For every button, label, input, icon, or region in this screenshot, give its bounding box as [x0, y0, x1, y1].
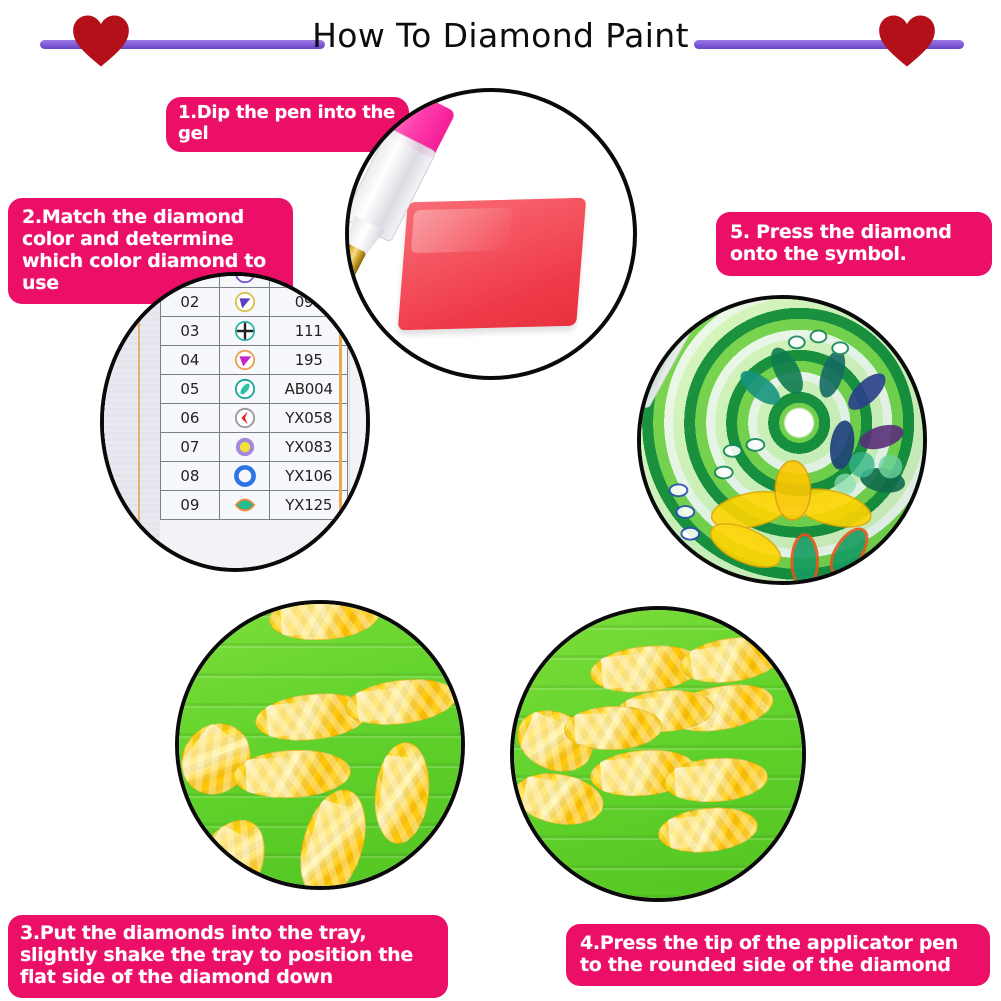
step-1-image — [345, 88, 637, 380]
step-1-photo — [347, 90, 635, 378]
step-4-label: 4.Press the tip of the applicator pen to… — [566, 924, 990, 986]
row-code: 093 — [270, 288, 348, 317]
step-5-photo — [639, 297, 925, 583]
row-no: 06 — [161, 404, 220, 433]
step-3-label: 3.Put the diamonds into the tray, slight… — [8, 915, 448, 998]
canvas-weave-edge — [102, 274, 160, 570]
step-2-image: 02 02 093 03 — [100, 272, 370, 572]
chart-margin-line — [138, 274, 140, 570]
table-row: 07 YX083 — [161, 433, 348, 462]
row-symbol — [219, 404, 270, 433]
step-3-photo — [177, 602, 463, 888]
row-no: 05 — [161, 375, 220, 404]
row-code: 111 — [270, 317, 348, 346]
poster-canvas: How To Diamond Paint 1.Dip the pen into … — [0, 0, 1001, 1001]
row-code: YX125 — [270, 491, 348, 520]
row-symbol — [219, 433, 270, 462]
row-code: YX083 — [270, 433, 348, 462]
gel-pad — [398, 198, 587, 331]
row-no: 04 — [161, 346, 220, 375]
table-row: 06 YX058 — [161, 404, 348, 433]
step-5-label: 5. Press the diamond onto the symbol. — [716, 212, 992, 276]
chart-right-edge-line — [349, 274, 350, 570]
table-row: 03 111 — [161, 317, 348, 346]
row-symbol — [219, 317, 270, 346]
row-symbol — [219, 288, 270, 317]
row-symbol — [219, 491, 270, 520]
row-symbol — [219, 462, 270, 491]
table-row: 05 AB004 — [161, 375, 348, 404]
row-no: 03 — [161, 317, 220, 346]
table-row: 08 YX106 — [161, 462, 348, 491]
row-symbol — [219, 272, 270, 288]
step-2-photo: 02 02 093 03 — [102, 274, 368, 570]
row-code: YX058 — [270, 404, 348, 433]
color-chart-sheet: 02 02 093 03 — [102, 274, 368, 570]
row-code: AB004 — [270, 375, 348, 404]
page-title: How To Diamond Paint — [0, 16, 1001, 55]
row-symbol — [219, 346, 270, 375]
row-no: 07 — [161, 433, 220, 462]
row-code: YX106 — [270, 462, 348, 491]
row-symbol — [219, 375, 270, 404]
table-row: 04 195 — [161, 346, 348, 375]
table-row: 02 093 — [161, 288, 348, 317]
step-4-image — [510, 606, 806, 902]
step-5-image — [637, 295, 927, 585]
row-no: 08 — [161, 462, 220, 491]
row-no: 02 — [161, 288, 220, 317]
table-row: 09 YX125 — [161, 491, 348, 520]
row-no: 09 — [161, 491, 220, 520]
chart-right-margin-line — [339, 274, 342, 570]
color-chart-table: 02 02 093 03 — [160, 272, 348, 520]
header: How To Diamond Paint — [0, 0, 1001, 78]
step-3-image — [175, 600, 465, 890]
step-4-photo — [512, 608, 804, 900]
row-code: 195 — [270, 346, 348, 375]
